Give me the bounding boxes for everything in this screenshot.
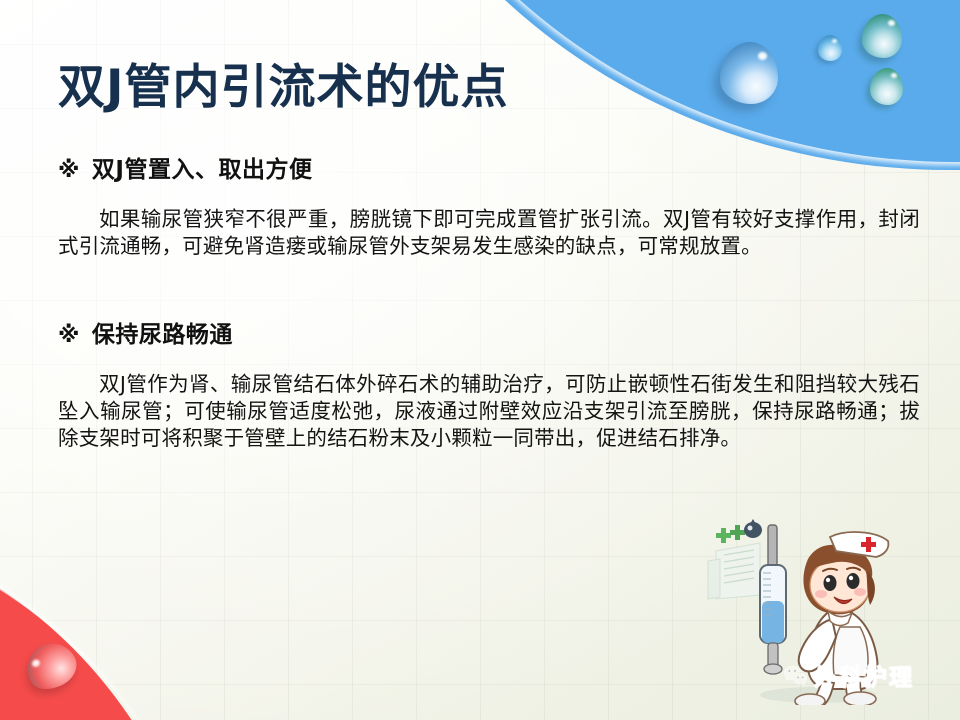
section-advantage-1: ※ 双J管置入、取出方便 如果输尿管狭窄不很严重，膀胱镜下即可完成置管扩张引流。… (0, 150, 960, 259)
wechat-icon (782, 662, 808, 688)
cartoon-nurse-illustration (690, 515, 926, 705)
section-advantage-2: ※ 保持尿路畅通 双J管作为肾、输尿管结石体外碎石术的辅助治疗，可防止嵌顿性石街… (0, 315, 960, 451)
watermark-label: 外科护理 (814, 658, 914, 692)
section-heading-2-label: 保持尿路畅通 (92, 315, 233, 349)
section-body-2: 双J管作为肾、输尿管结石体外碎石术的辅助治疗，可防止嵌顿性石街发生和阻挡较大残石… (0, 371, 960, 451)
red-corner-shape (0, 510, 210, 720)
slide-canvas: 双J管内引流术的优点 ※ 双J管置入、取出方便 如果输尿管狭窄不很严重，膀胱镜下… (0, 0, 960, 720)
section-heading-2: ※ 保持尿路畅通 (0, 315, 960, 349)
page-title: 双J管内引流术的优点 (58, 48, 509, 117)
section-heading-1-label: 双J管置入、取出方便 (92, 150, 313, 184)
section-heading-1: ※ 双J管置入、取出方便 (0, 150, 960, 184)
watermark: 外科护理 (782, 658, 914, 692)
bullet-marker-icon: ※ (58, 160, 80, 182)
section-body-1: 如果输尿管狭窄不很严重，膀胱镜下即可完成置管扩张引流。双J管有较好支撑作用，封闭… (0, 206, 960, 259)
slide-content: ※ 双J管置入、取出方便 如果输尿管狭窄不很严重，膀胱镜下即可完成置管扩张引流。… (0, 150, 960, 451)
bullet-marker-icon: ※ (58, 325, 80, 347)
